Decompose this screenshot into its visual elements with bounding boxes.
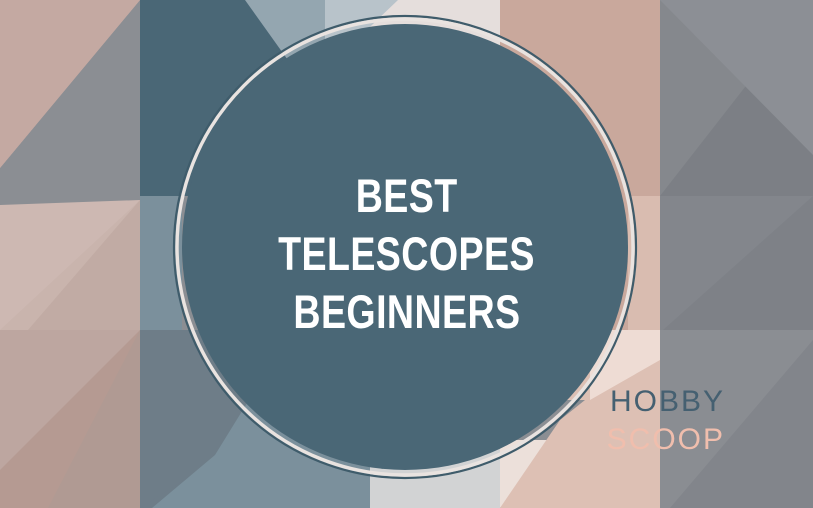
geometric-background <box>0 0 813 508</box>
circle-main-disc <box>182 24 628 470</box>
telescope-banner-image: BEST TELESCOPES BEGINNERS HOBBY SCOOP <box>0 0 813 508</box>
